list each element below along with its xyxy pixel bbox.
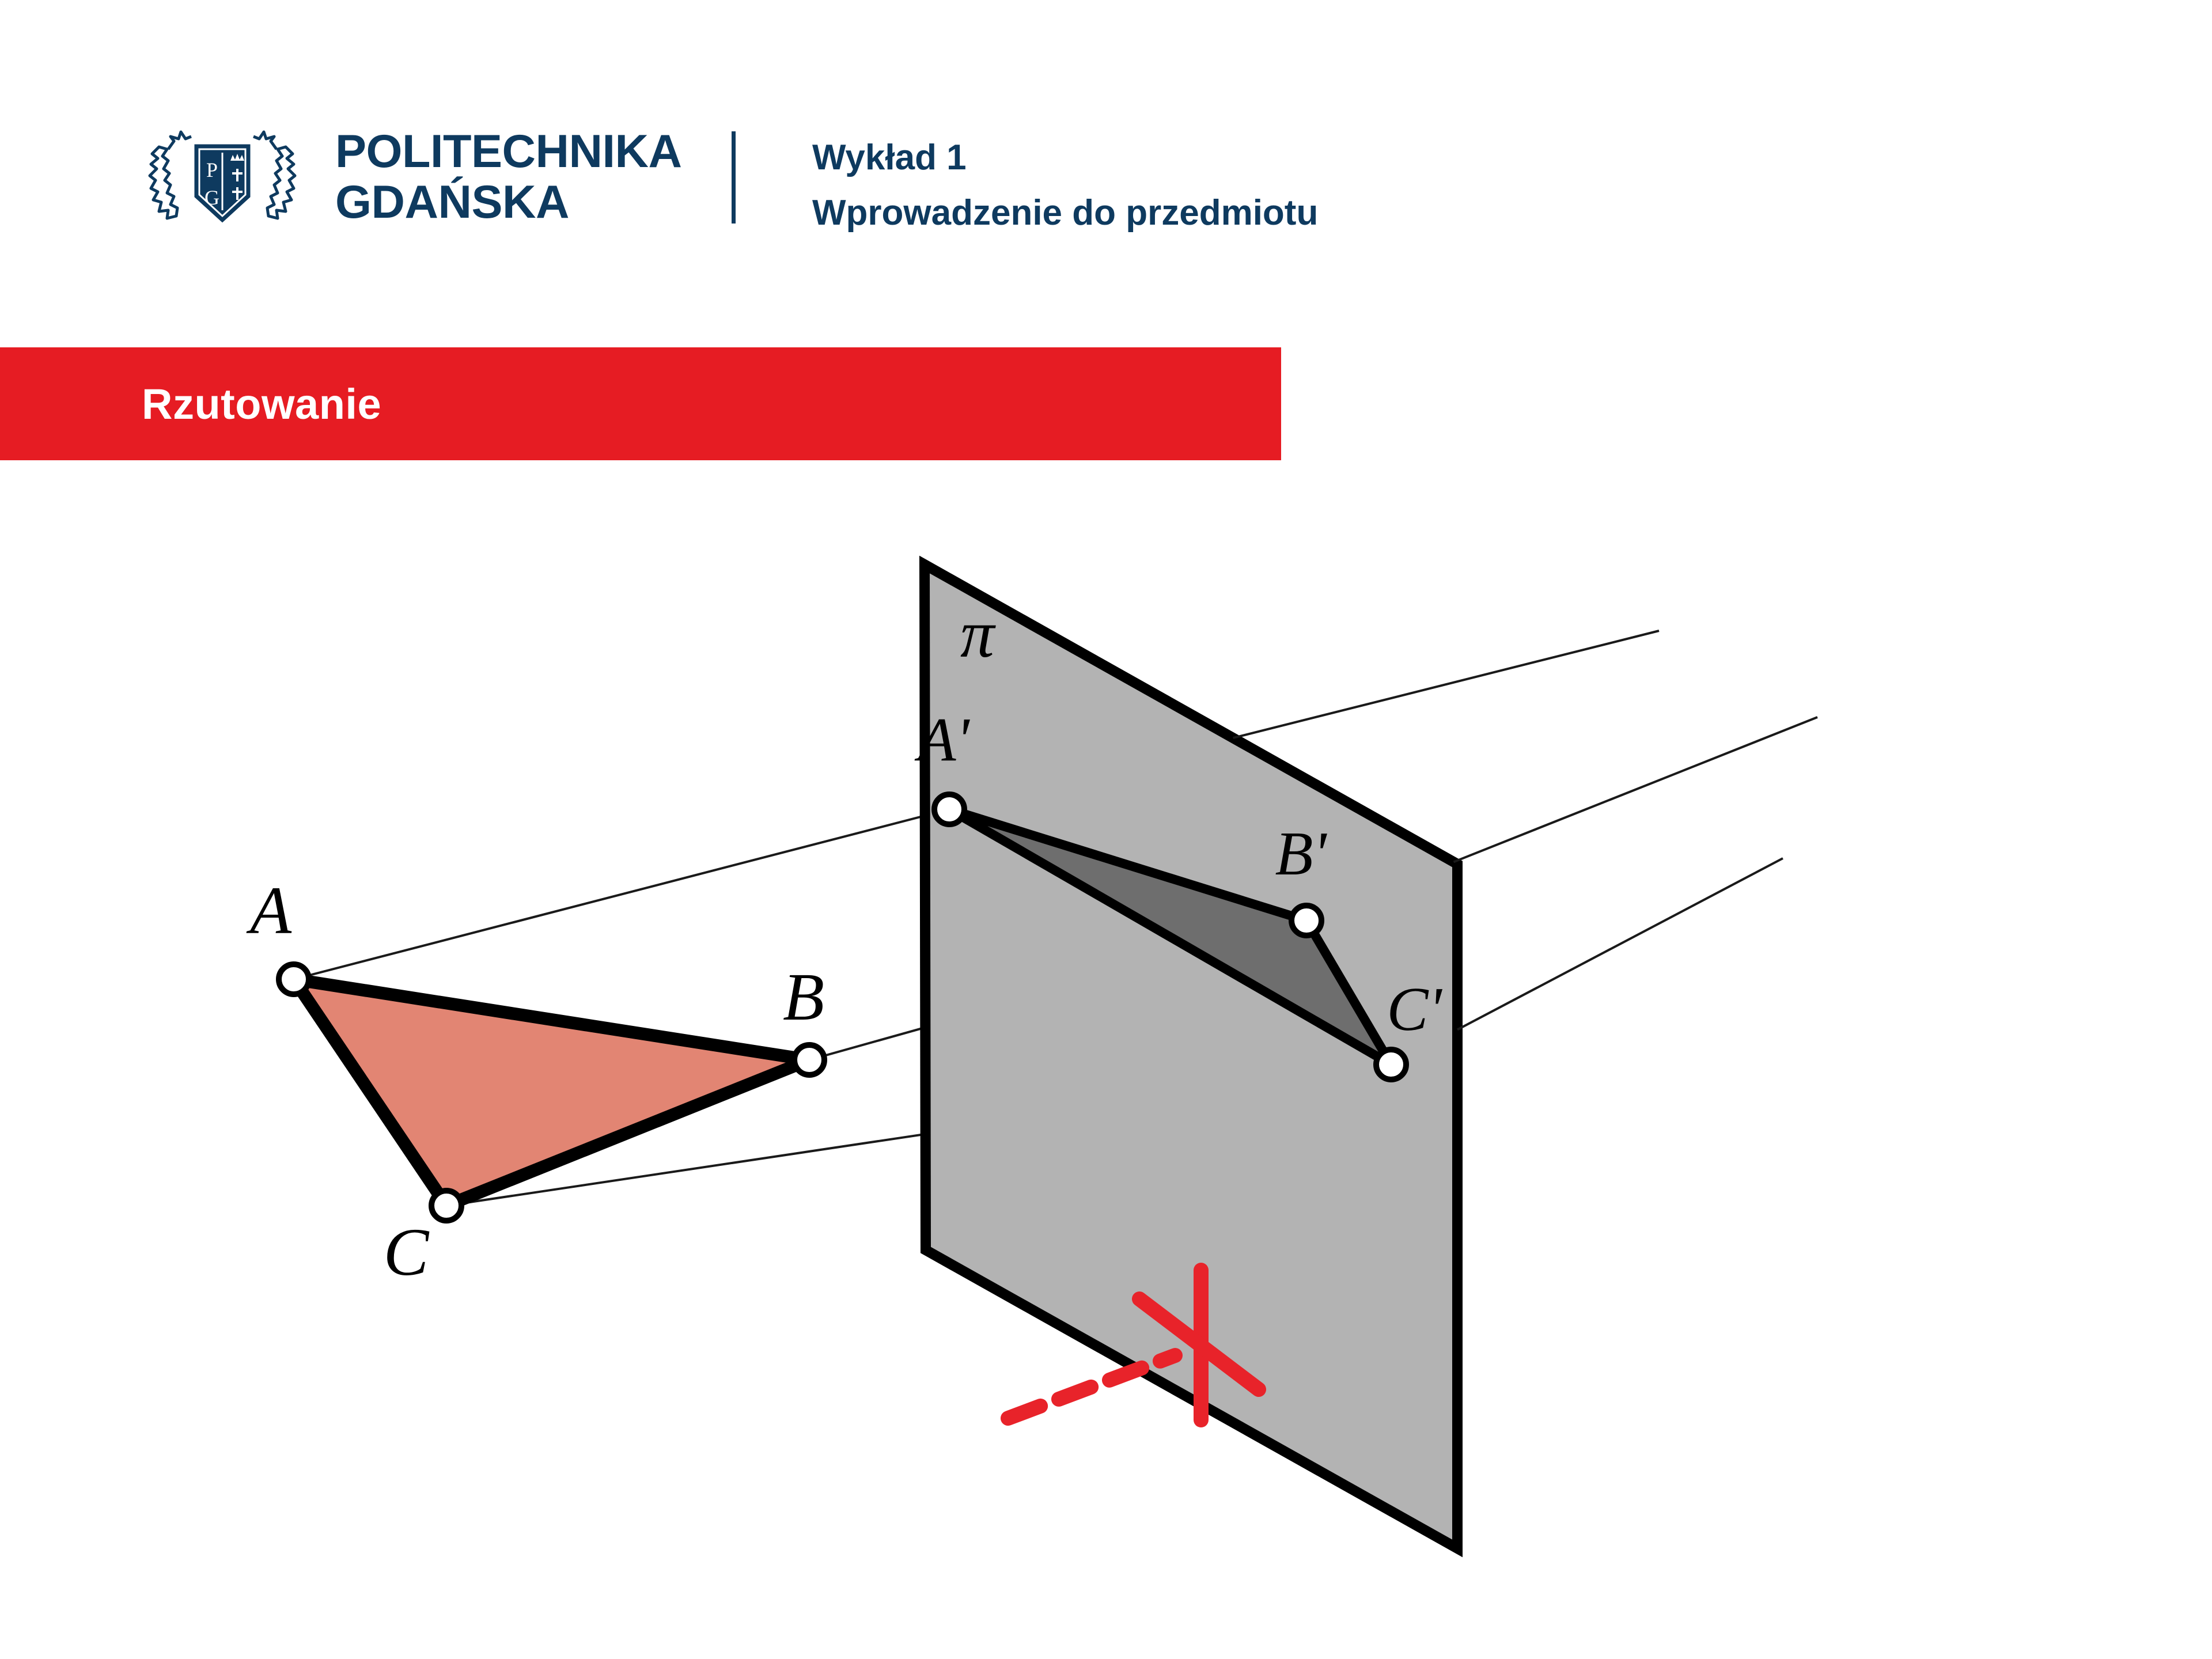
label-cp: C' (1387, 975, 1442, 1044)
vertex-c (431, 1191, 461, 1221)
vertex-b (794, 1045, 824, 1075)
crest-letter-p: P (206, 158, 218, 181)
parallel-projection-diagram: π ABCA'B'C' (0, 484, 2212, 1659)
lecture-number: Wykład 1 (812, 130, 1318, 185)
header-divider (732, 131, 736, 224)
section-title-bar: Rzutowanie (0, 347, 1281, 460)
university-logo-block: P G POLITECHNIKA GDAŃSKA (136, 124, 682, 230)
vertex-cp (1376, 1050, 1406, 1080)
university-name: POLITECHNIKA GDAŃSKA (335, 127, 682, 228)
slide-header: P G POLITECHNIKA GDAŃSKA Wykład 1 Wprowa… (0, 0, 2212, 323)
ray-extension-cp (1457, 858, 1783, 1029)
label-a: A (246, 873, 292, 948)
label-c: C (384, 1214, 430, 1290)
plane-label-pi: π (960, 596, 996, 672)
vertex-ap (934, 794, 964, 824)
crest-letter-g: G (204, 186, 219, 209)
object-triangle (294, 979, 809, 1206)
label-b: B (783, 959, 824, 1035)
ray-extension-bp (1453, 717, 1817, 862)
projection-figure: π ABCA'B'C' (0, 484, 2212, 1659)
vertex-a (279, 964, 309, 994)
ray-extension-ap (1233, 631, 1659, 738)
label-ap: A' (914, 706, 970, 774)
page-title: Rzutowanie (142, 380, 381, 429)
lecture-info: Wykład 1 Wprowadzenie do przedmiotu (812, 130, 1318, 241)
lecture-subject: Wprowadzenie do przedmiotu (812, 185, 1318, 241)
ray-a (294, 809, 949, 979)
vertex-bp (1291, 906, 1321, 935)
label-bp: B' (1275, 820, 1327, 888)
politechnika-gdanska-crest-icon: P G (136, 124, 309, 230)
